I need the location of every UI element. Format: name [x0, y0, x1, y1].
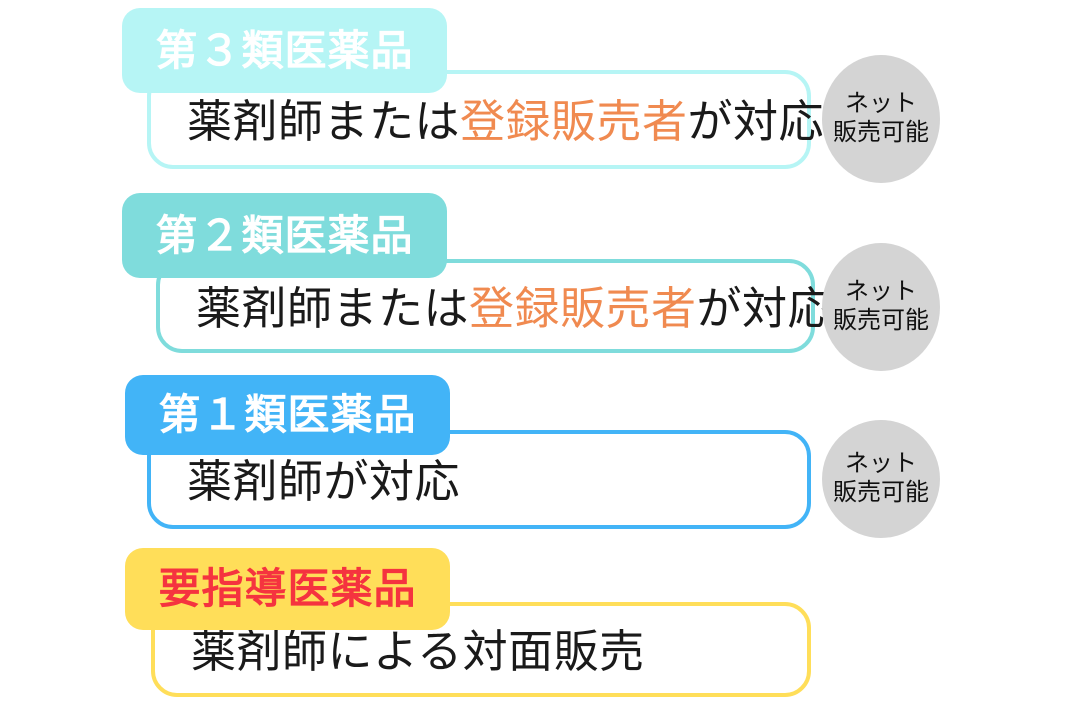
- online-sale-badge-line1-class-3: ネット: [845, 90, 917, 119]
- category-tab-class-1[interactable]: 第１類医薬品: [125, 375, 450, 455]
- category-tab-label-class-3: 第３類医薬品: [155, 30, 413, 72]
- category-tab-label-class-1: 第１類医薬品: [158, 394, 416, 436]
- description-text-class-2: 薬剤師または登録販売者が対応: [160, 281, 833, 332]
- description-suffix-class-2: が対応: [697, 284, 834, 334]
- category-tab-class-3[interactable]: 第３類医薬品: [122, 8, 447, 93]
- category-tab-guidance-required[interactable]: 要指導医薬品: [125, 548, 450, 630]
- description-prefix-class-2: 薬剤師または: [196, 284, 469, 334]
- online-sale-badge-class-1: ネット 販売可能: [822, 420, 940, 538]
- online-sale-badge-line1-class-2: ネット: [845, 278, 917, 307]
- description-suffix-class-3: が対応: [688, 97, 825, 147]
- category-tab-class-2[interactable]: 第２類医薬品: [122, 193, 447, 278]
- online-sale-badge-line1-class-1: ネット: [845, 450, 917, 479]
- description-highlight-class-3: 登録販売者: [460, 97, 688, 147]
- category-tab-label-class-2: 第２類医薬品: [155, 215, 413, 257]
- online-sale-badge-class-2: ネット 販売可能: [822, 243, 940, 371]
- description-text-guidance-required: 薬剤師による対面販売: [155, 624, 645, 675]
- description-highlight-class-2: 登録販売者: [469, 284, 697, 334]
- description-prefix-guidance-required: 薬剤師による対面販売: [191, 627, 645, 677]
- online-sale-badge-class-3: ネット 販売可能: [822, 55, 940, 183]
- online-sale-badge-line2-class-1: 販売可能: [833, 479, 929, 508]
- description-text-class-1: 薬剤師が対応: [151, 454, 460, 505]
- description-prefix-class-3: 薬剤師または: [187, 97, 460, 147]
- category-tab-label-guidance-required: 要指導医薬品: [158, 568, 416, 610]
- online-sale-badge-line2-class-2: 販売可能: [833, 307, 929, 336]
- online-sale-badge-line2-class-3: 販売可能: [833, 119, 929, 148]
- drug-classification-diagram: 薬剤師または登録販売者が対応 第３類医薬品 ネット 販売可能 薬剤師または登録販…: [0, 0, 1080, 720]
- description-text-class-3: 薬剤師または登録販売者が対応: [151, 94, 824, 145]
- description-prefix-class-1: 薬剤師が対応: [187, 457, 460, 507]
